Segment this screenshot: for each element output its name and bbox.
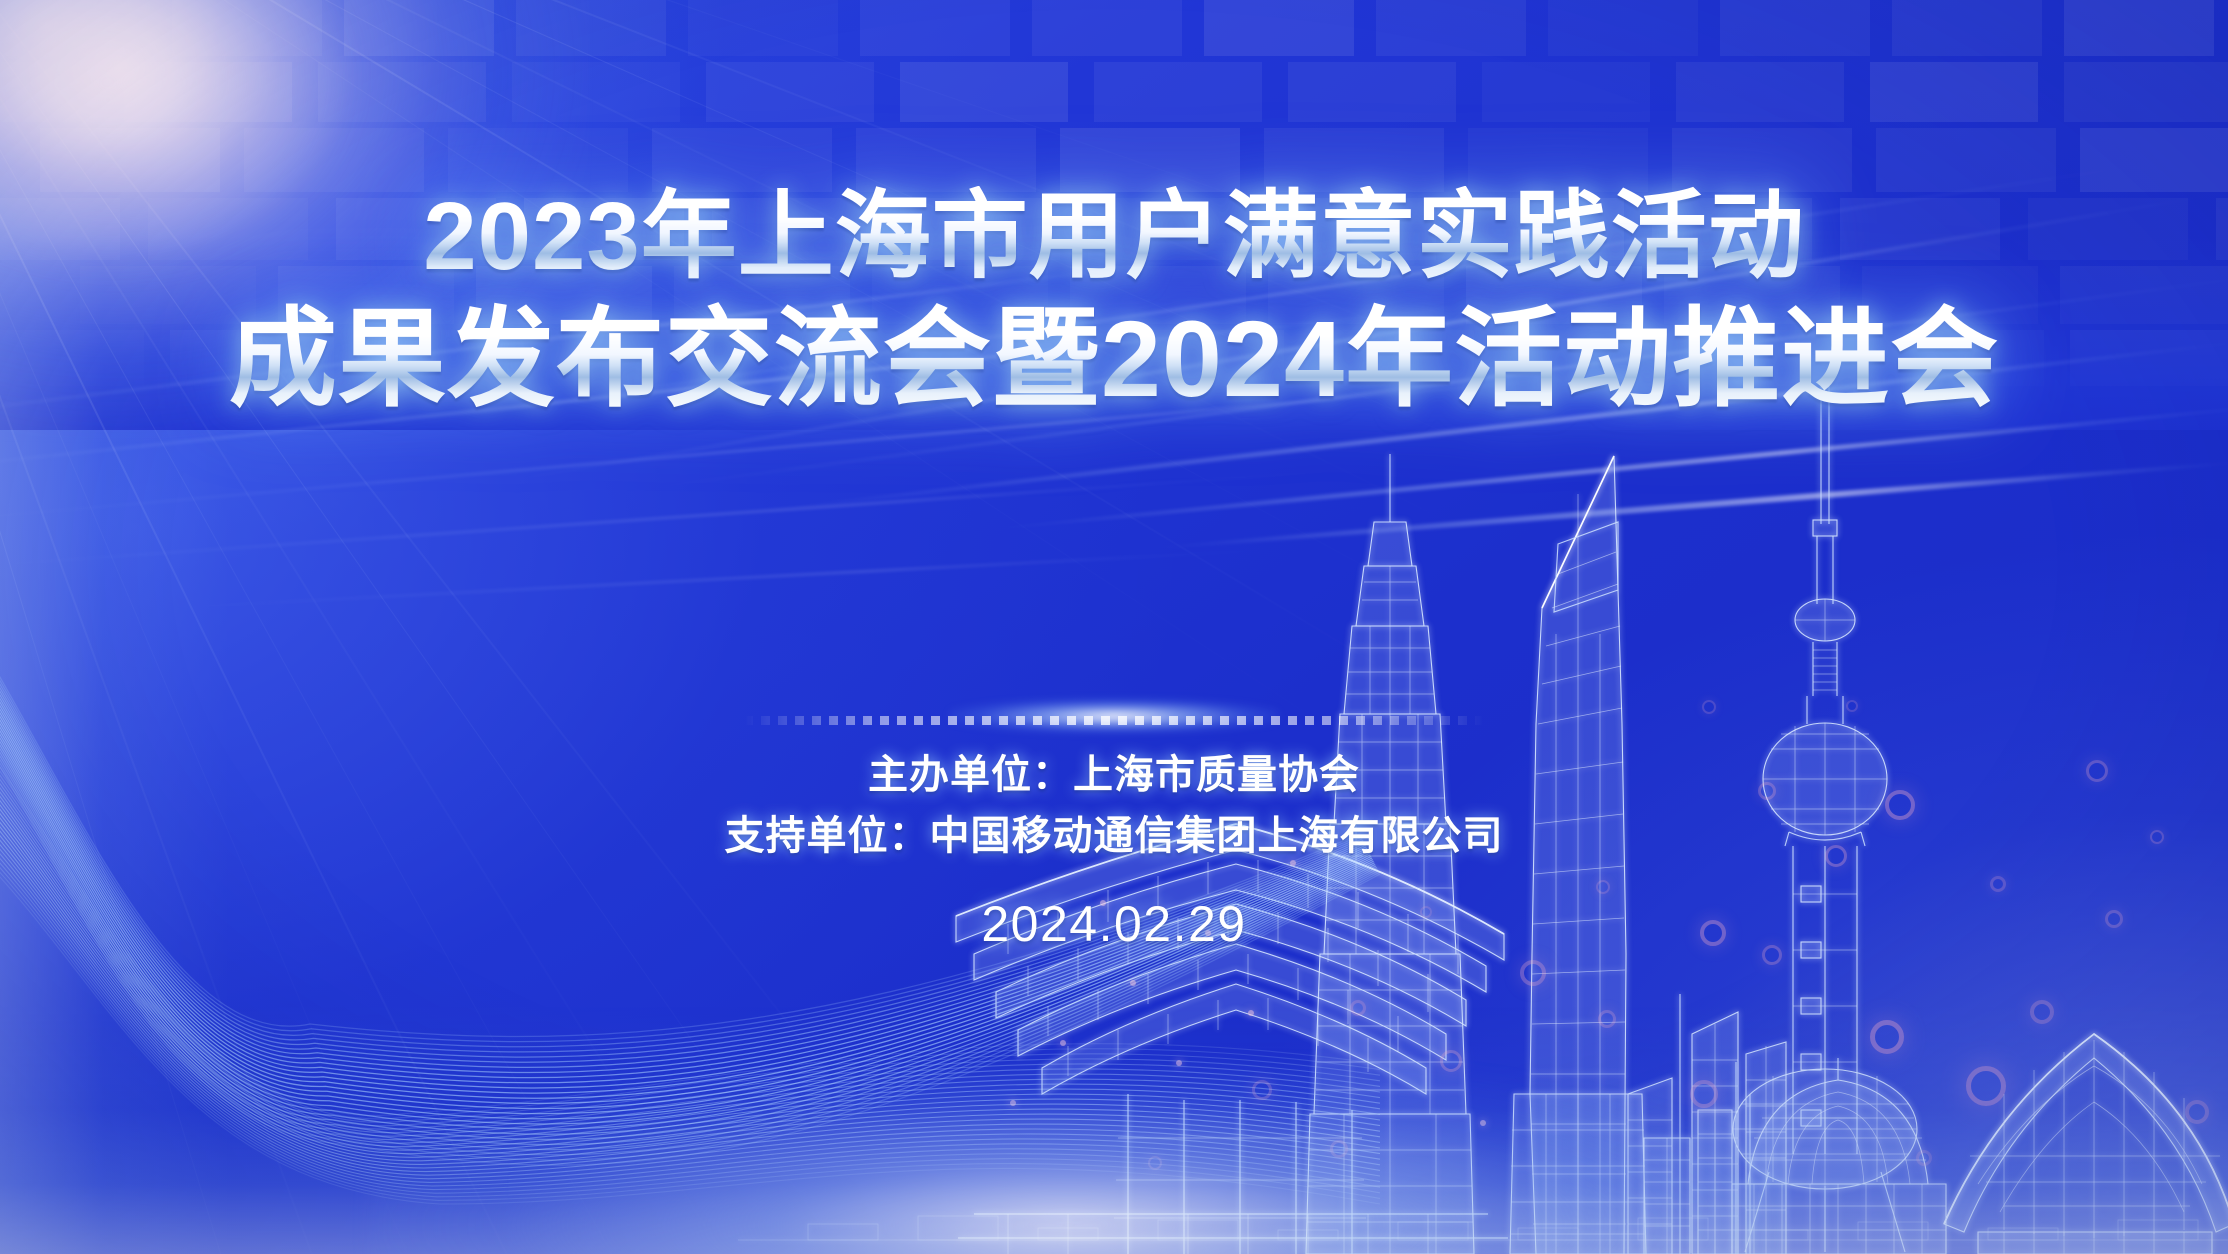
poster-title-block: 2023年上海市用户满意实践活动 成果发布交流会暨2024年活动推进会 (0, 186, 2228, 416)
organizer-line: 主办单位：上海市质量协会 (0, 745, 2228, 806)
title-line-2: 成果发布交流会暨2024年活动推进会 (0, 302, 2228, 416)
poster-canvas: 2023年上海市用户满意实践活动 成果发布交流会暨2024年活动推进会 主办单位… (0, 0, 2228, 1254)
event-date-block: 2024.02.29 (0, 895, 2228, 953)
event-date: 2024.02.29 (0, 895, 2228, 953)
supporter-line: 支持单位：中国移动通信集团上海有限公司 (0, 806, 2228, 867)
title-line-1: 2023年上海市用户满意实践活动 (0, 186, 2228, 288)
divider-dashes (744, 716, 1484, 725)
organizer-block: 主办单位：上海市质量协会 支持单位：中国移动通信集团上海有限公司 (0, 745, 2228, 867)
dashed-divider (0, 709, 2228, 733)
ground-hotspot (369, 1064, 1769, 1254)
